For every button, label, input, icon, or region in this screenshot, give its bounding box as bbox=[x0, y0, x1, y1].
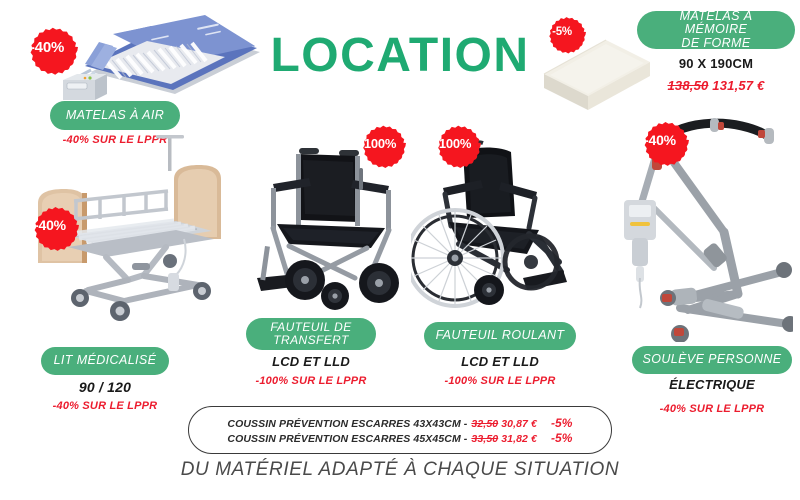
sub-matelas-memoire-de-forme: 90 X 190CM bbox=[637, 56, 795, 71]
label-line-1: MATELAS À MÉMOIRE bbox=[647, 10, 785, 37]
label-fauteuil-de-transfert: FAUTEUIL DE TRANSFERT bbox=[246, 318, 376, 350]
cushion-description: COUSSIN PRÉVENTION ESCARRES 45X45CM - bbox=[227, 433, 467, 445]
cushion-row: COUSSIN PRÉVENTION ESCARRES 43X43CM - 32… bbox=[227, 416, 572, 430]
patient-lift-image bbox=[618, 112, 793, 342]
sub-fauteuil-roulant: LCD ET LLD bbox=[424, 354, 576, 369]
cushion-offers-box: COUSSIN PRÉVENTION ESCARRES 43X43CM - 32… bbox=[188, 406, 612, 454]
label-lit-medicalise: LIT MÉDICALISÉ bbox=[41, 347, 169, 375]
cushion-discount: -5% bbox=[551, 416, 573, 430]
note-lit-medicalise: -40% SUR LE LPPR bbox=[35, 400, 175, 412]
promo-poster: LOCATION bbox=[0, 0, 800, 500]
note-souleve-personne: -40% SUR LE LPPR bbox=[632, 403, 792, 415]
note-fauteuil-de-transfert: -100% SUR LE LPPR bbox=[241, 375, 381, 387]
air-mattress-image bbox=[55, 8, 265, 103]
cushion-row: COUSSIN PRÉVENTION ESCARRES 45X45CM - 33… bbox=[227, 431, 572, 445]
label-matelas-a-air: MATELAS À AIR bbox=[50, 101, 180, 130]
cushion-description: COUSSIN PRÉVENTION ESCARRES 43X43CM - bbox=[227, 418, 467, 430]
label-line-2: TRANSFERT bbox=[273, 334, 348, 347]
label-matelas-memoire-de-forme: MATELAS À MÉMOIRE DE FORME bbox=[637, 11, 795, 49]
sub-fauteuil-de-transfert: LCD ET LLD bbox=[246, 354, 376, 369]
cushion-price-new: 30,87 € bbox=[501, 418, 537, 430]
cushion-price-new: 31,82 € bbox=[501, 433, 537, 445]
note-fauteuil-roulant: -100% SUR LE LPPR bbox=[424, 375, 576, 387]
label-fauteuil-roulant: FAUTEUIL ROULANT bbox=[424, 322, 576, 350]
price-new: 131,57 € bbox=[712, 78, 764, 93]
cushion-price-old: 33,50 bbox=[471, 433, 498, 445]
label-souleve-personne: SOULÈVE PERSONNE bbox=[632, 346, 792, 374]
price-matelas-memoire-de-forme: 138,50 131,57 € bbox=[637, 78, 795, 93]
price-old: 138,50 bbox=[668, 78, 709, 93]
cushion-price-old: 32,50 bbox=[471, 418, 498, 430]
wheelchair-image bbox=[411, 130, 576, 320]
label-line-2: DE FORME bbox=[681, 37, 750, 51]
sub-lit-medicalise: 90 / 120 bbox=[41, 379, 169, 395]
cushion-discount: -5% bbox=[551, 431, 573, 445]
sub-souleve-personne: ÉLECTRIQUE bbox=[632, 377, 792, 392]
footer-tagline: DU MATÉRIEL ADAPTÉ À CHAQUE SITUATION bbox=[0, 459, 800, 481]
